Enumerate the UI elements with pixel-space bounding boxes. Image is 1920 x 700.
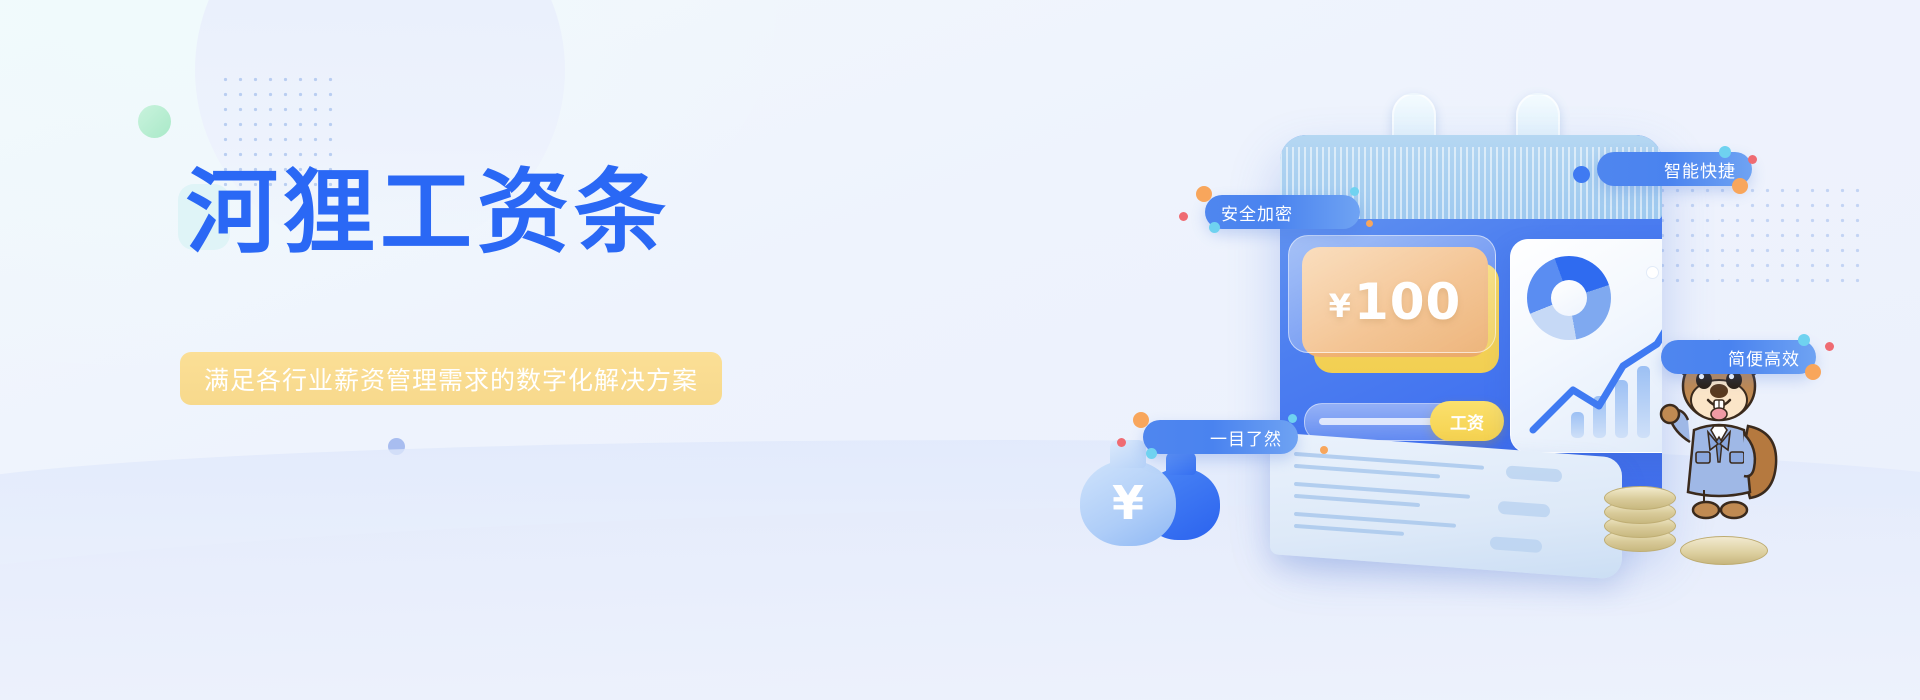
page-title: 河狸工资条 — [186, 160, 671, 266]
decor-dot-red-1 — [1179, 212, 1188, 221]
hero-banner: 河狸工资条 满足各行业薪资管理需求的数字化解决方案 ¥100 工资 — [0, 0, 1920, 700]
decor-dot-cyan-3 — [1719, 146, 1731, 158]
feature-tag-secure-label: 安全加密 — [1205, 200, 1309, 225]
decor-dot-red-4 — [1117, 438, 1126, 447]
feature-tag-efficient-label: 简便高效 — [1712, 345, 1816, 370]
decor-dot-cyan-5 — [1146, 448, 1157, 459]
analytics-panel — [1510, 239, 1662, 453]
trend-arrow-icon — [1511, 240, 1662, 452]
decor-dot-orange-1 — [1196, 186, 1212, 202]
feature-tag-secure[interactable]: 安全加密 — [1205, 195, 1360, 229]
coin-pedestal — [1680, 536, 1768, 565]
wage-button[interactable]: 工资 — [1430, 401, 1504, 441]
decor-dot-orange-3 — [1732, 178, 1748, 194]
hero-subtitle: 满足各行业薪资管理需求的数字化解决方案 — [180, 352, 722, 405]
feature-tag-smart[interactable]: 智能快捷 — [1597, 152, 1752, 186]
decor-dot-orange-6 — [1320, 446, 1328, 454]
hero-copy: 河狸工资条 — [186, 160, 671, 266]
decor-dot-blue-deco-1 — [1573, 166, 1590, 183]
decor-dot-orange-5 — [1133, 412, 1149, 428]
decor-dot-cyan-1 — [1209, 222, 1220, 233]
decor-dot-orange-4 — [1805, 364, 1821, 380]
feature-tag-clear-label: 一目了然 — [1194, 425, 1298, 450]
payslip-paper — [1270, 432, 1622, 580]
decor-dot-red-3 — [1825, 342, 1834, 351]
decor-dot-red-2 — [1748, 155, 1757, 164]
decor-dot-cyan-6 — [1288, 414, 1297, 423]
decor-dot-cyan-2 — [1350, 187, 1359, 196]
money-bag-front: ¥ — [1080, 460, 1176, 546]
feature-tag-efficient[interactable]: 简便高效 — [1661, 340, 1816, 374]
decor-dot-cyan-4 — [1798, 334, 1810, 346]
feature-tag-clear[interactable]: 一目了然 — [1143, 420, 1298, 454]
money-card-glass-overlay — [1288, 235, 1496, 353]
page-title-wrap: 河狸工资条 — [186, 160, 671, 266]
money-bag-yen-symbol: ¥ — [1080, 460, 1176, 546]
decor-dot-orange-2 — [1366, 220, 1373, 227]
decor-mint-circle — [138, 105, 171, 138]
